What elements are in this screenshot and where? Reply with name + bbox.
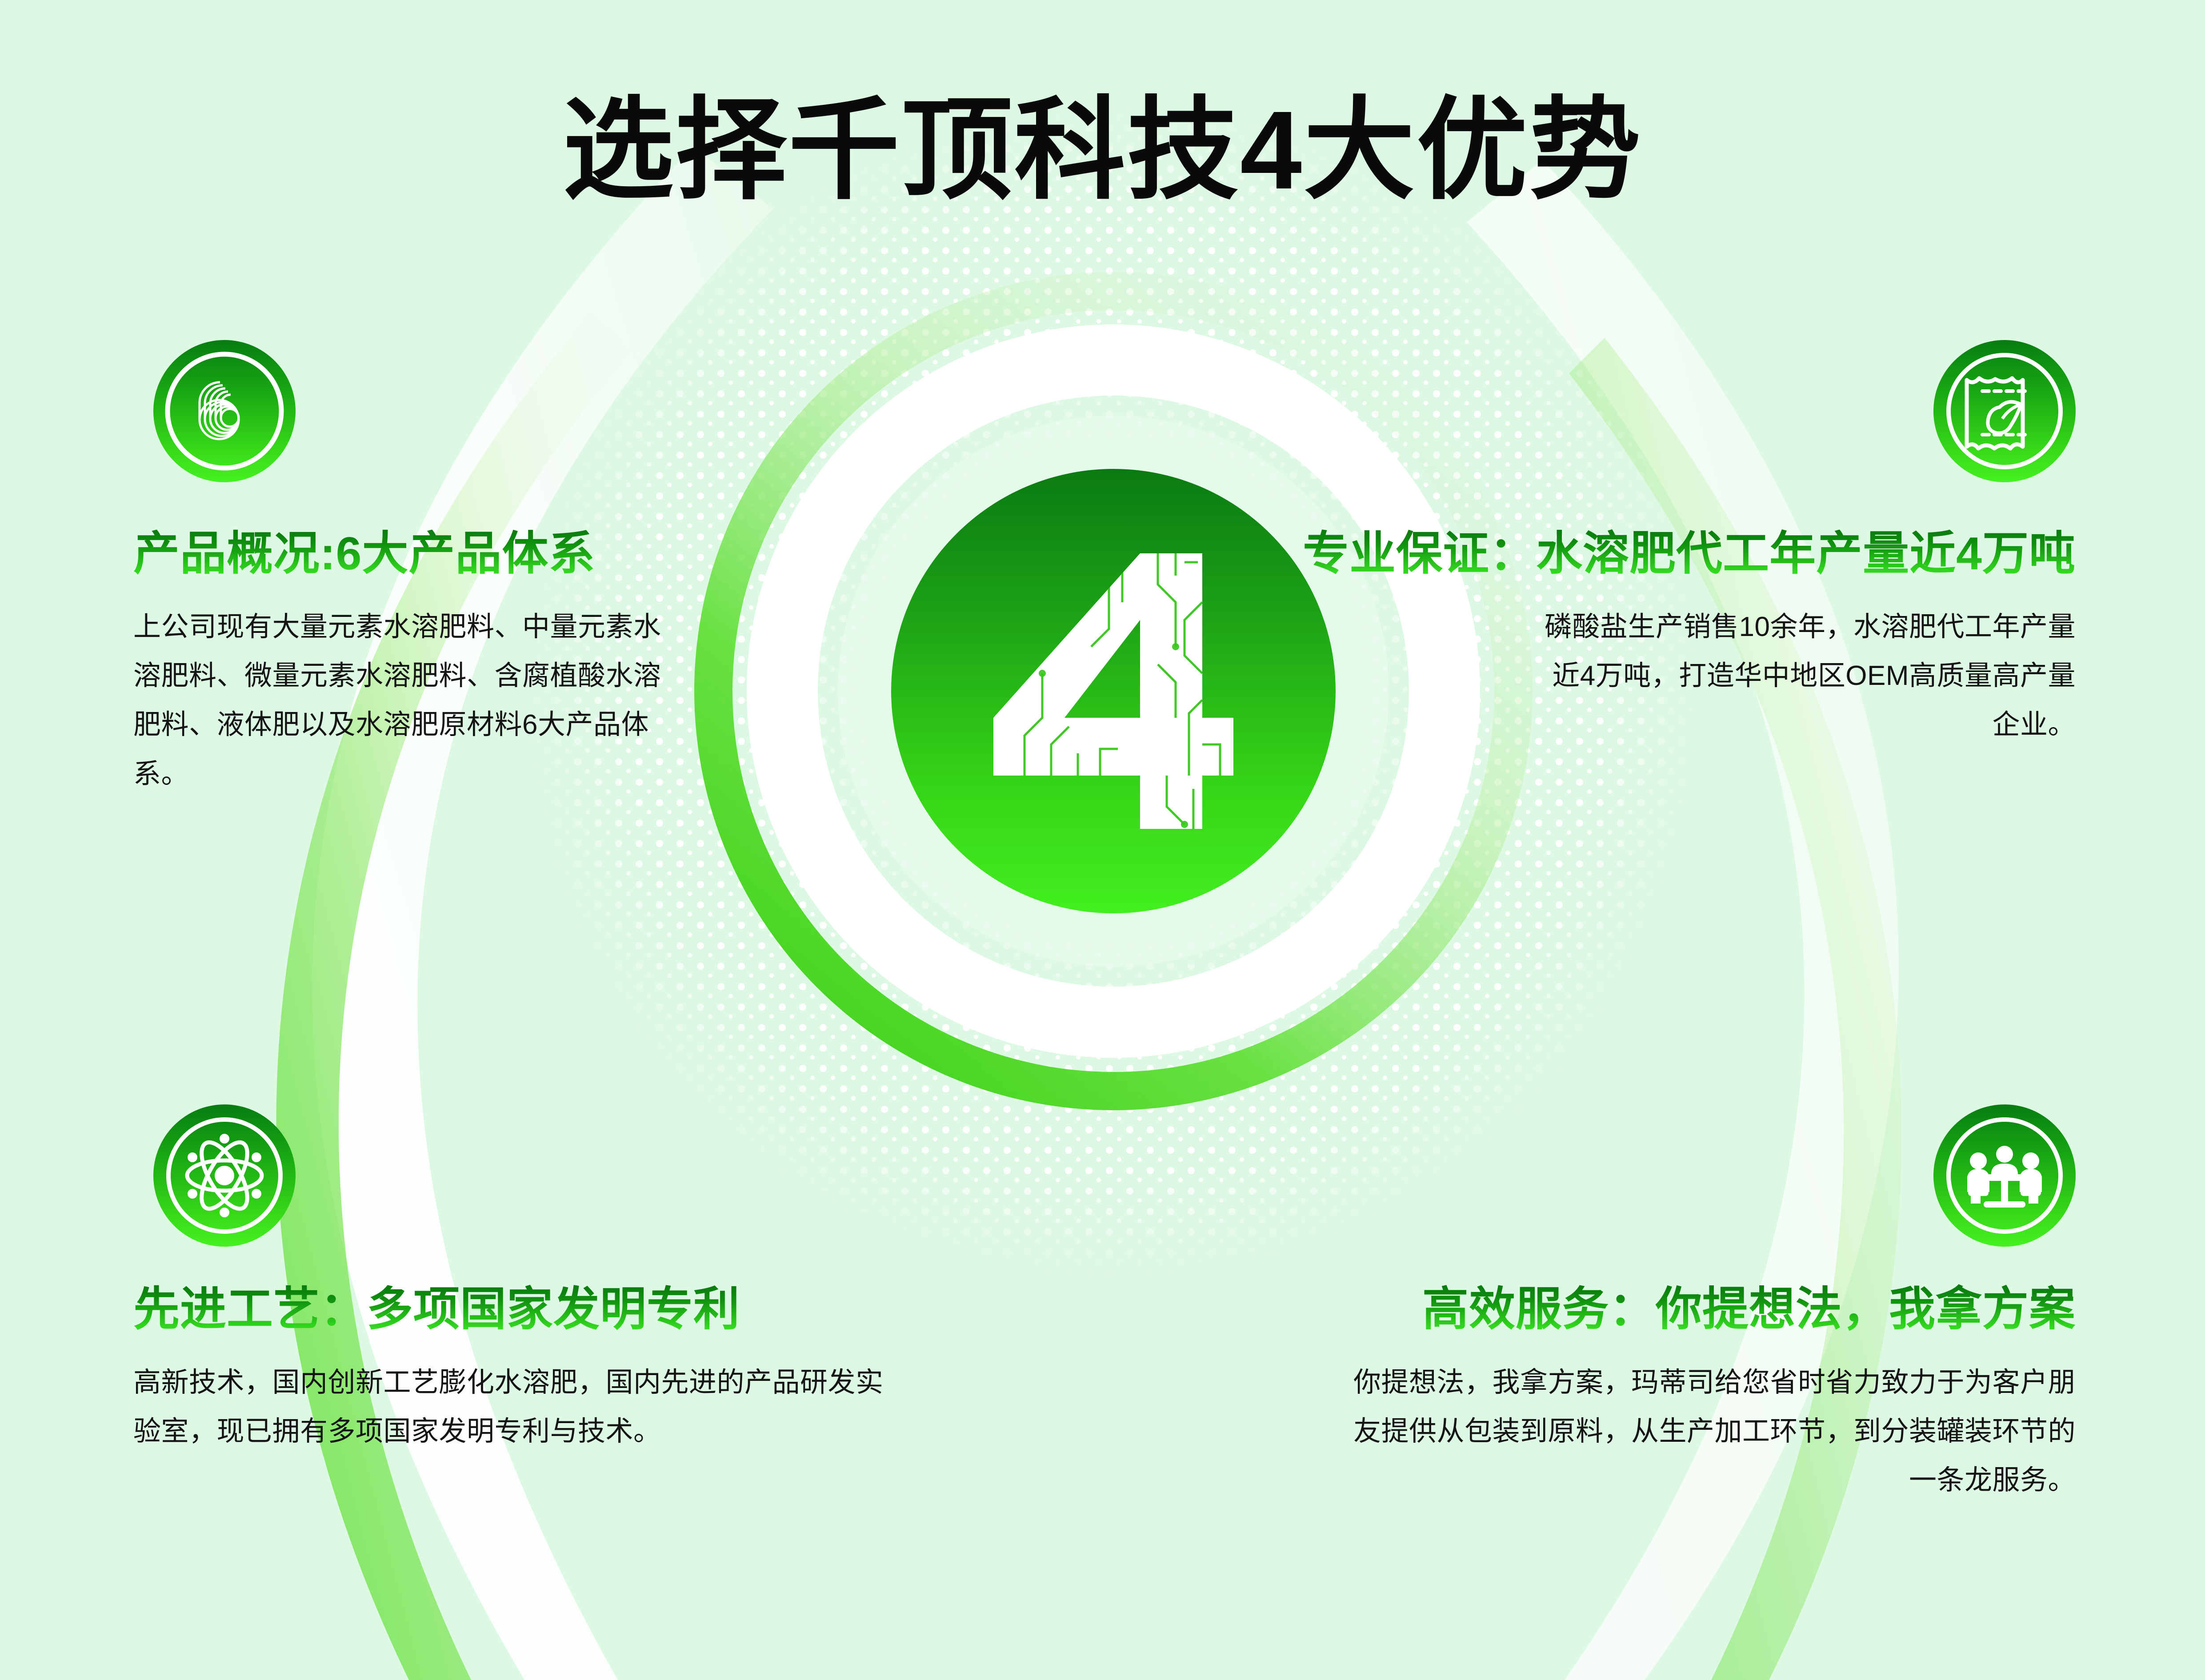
advantage-body: 磷酸盐生产销售10余年，水溶肥代工年产量近4万吨，打造华中地区OEM高质量高产量… bbox=[1525, 603, 2076, 750]
advantage-body: 高新技术，国内创新工艺膨化水溶肥，国内先进的产品研发实验室，现已拥有多项国家发明… bbox=[133, 1358, 889, 1456]
advantage-card-product-overview: 产品概况:6大产品体系 上公司现有大量元素水溶肥料、中量元素水溶肥料、微量元素水… bbox=[133, 527, 782, 799]
advantage-body: 你提想法，我拿方案，玛蒂司给您省时省力致力于为客户朋友提供从包装到原料，从生产加… bbox=[1347, 1358, 2076, 1505]
advantage-heading: 产品概况:6大产品体系 bbox=[133, 527, 782, 581]
fertilizer-bag-icon bbox=[1933, 340, 2076, 482]
advantage-card-professional-guarantee: 专业保证：水溶肥代工年产量近4万吨 磷酸盐生产销售10余年，水溶肥代工年产量近4… bbox=[1196, 527, 2076, 750]
page-title: 选择千顶科技4大优势 bbox=[0, 89, 2205, 211]
advantage-heading: 先进工艺：多项国家发明专利 bbox=[133, 1282, 898, 1337]
advantage-heading: 专业保证：水溶肥代工年产量近4万吨 bbox=[1196, 527, 2076, 581]
advantage-heading: 高效服务：你提想法，我拿方案 bbox=[1338, 1282, 2076, 1337]
atom-icon bbox=[153, 1104, 296, 1247]
meeting-people-icon bbox=[1933, 1104, 2076, 1247]
advantage-card-efficient-service: 高效服务：你提想法，我拿方案 你提想法，我拿方案，玛蒂司给您省时省力致力于为客户… bbox=[1338, 1282, 2076, 1505]
number-six-rings-icon bbox=[153, 340, 296, 482]
advantage-card-advanced-technology: 先进工艺：多项国家发明专利 高新技术，国内创新工艺膨化水溶肥，国内先进的产品研发… bbox=[133, 1282, 898, 1456]
advantage-body: 上公司现有大量元素水溶肥料、中量元素水溶肥料、微量元素水溶肥料、含腐植酸水溶肥料… bbox=[133, 603, 680, 799]
